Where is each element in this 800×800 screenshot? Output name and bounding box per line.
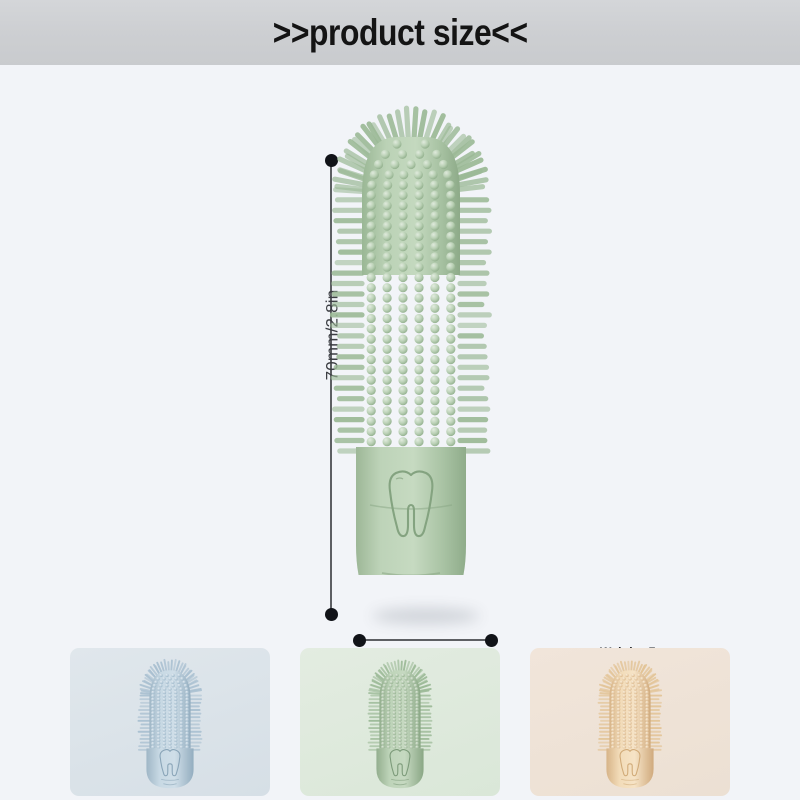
hero-stage: 70mm/2.8in 22mm/0.9in Weight: 7g bbox=[0, 65, 800, 625]
color-variants-row bbox=[0, 640, 800, 800]
height-dimension-endpoint-bottom bbox=[325, 608, 338, 621]
product-shadow bbox=[372, 608, 480, 624]
header-banner: >>product size<< bbox=[0, 0, 800, 65]
variant-card-green[interactable] bbox=[300, 648, 500, 796]
variant-illustration-blue bbox=[125, 654, 215, 794]
page-title: >>product size<< bbox=[273, 12, 528, 54]
variant-card-blue[interactable] bbox=[70, 648, 270, 796]
product-size-infographic: >>product size<< 70mm/2.8in 22mm/0.9in W… bbox=[0, 0, 800, 800]
variant-illustration-green bbox=[355, 654, 445, 794]
variant-illustration-tan bbox=[585, 654, 675, 794]
variant-card-tan[interactable] bbox=[530, 648, 730, 796]
product-illustration-main bbox=[310, 75, 540, 575]
